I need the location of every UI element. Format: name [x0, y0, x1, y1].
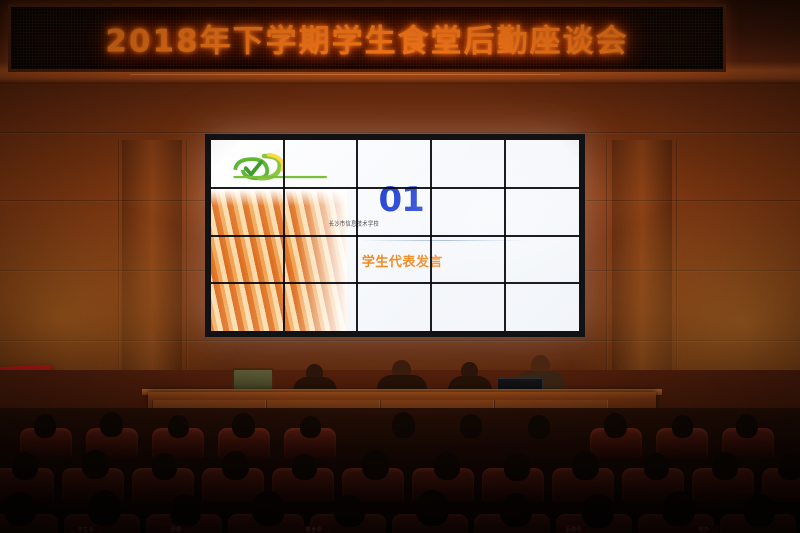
soffit-trim-line: [130, 74, 560, 75]
video-wall: 长沙市信息技术学校 01 学生代表发言: [205, 134, 585, 337]
seat-name-card: 膳食委: [300, 526, 328, 533]
seat-name-card: 后勤处: [560, 526, 588, 533]
led-banner: 2018年下学期学生食堂后勤座谈会: [8, 4, 726, 72]
seat-name-card: 学生会: [72, 526, 100, 533]
wheat-photo-fade: [211, 190, 347, 206]
led-banner-text: 2018年下学期学生食堂后勤座谈会: [11, 16, 723, 61]
audience-area: 学生会 团委 膳食委 后勤处 校办: [0, 408, 800, 533]
conference-hall-photo: 2018年下学期学生食堂后勤座谈会 长沙市信息技术学校 01 学生代表发言: [0, 0, 800, 533]
slide-section-title: 学生代表发言: [362, 251, 443, 270]
seat-name-card: 校办: [690, 526, 718, 533]
slide-section-number: 01: [378, 180, 423, 220]
wheat-photo: [211, 190, 347, 331]
school-logo-icon: [229, 153, 398, 184]
presentation-slide: 长沙市信息技术学校 01 学生代表发言: [211, 140, 579, 331]
slide-divider: [362, 240, 528, 241]
school-logo-text: 长沙市信息技术学校: [329, 219, 379, 228]
seat-name-card: 团委: [162, 526, 190, 533]
